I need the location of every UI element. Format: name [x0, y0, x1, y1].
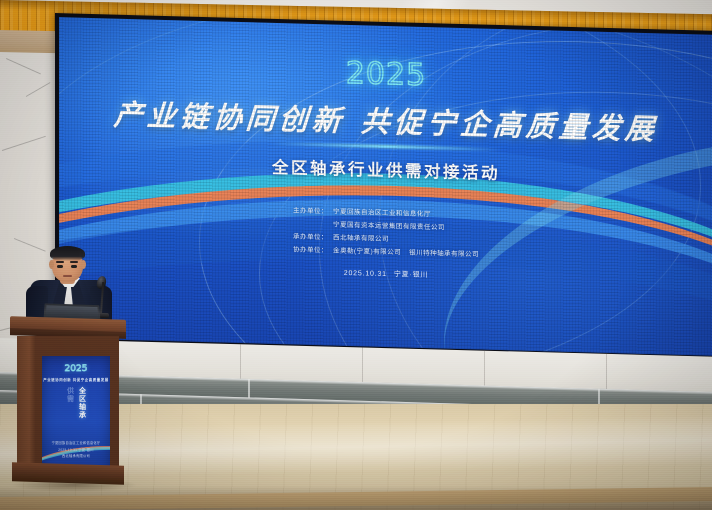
headline-underglow — [271, 142, 501, 151]
speaker-hair — [50, 246, 85, 261]
date-location-line: 2025.10.31宁夏·银川 — [344, 268, 428, 280]
headline-right: 共促宁企高质量发展 — [360, 106, 659, 146]
conference-stage-photo: 2025 产业链协同创新共促宁企高质量发展 全区轴承行业供需对接活动 主办单位：… — [0, 0, 712, 510]
main-headline: 产业链协同创新共促宁企高质量发展 — [113, 92, 660, 149]
podium-body: 2025 产业链协同创新 共促宁企高质量发展 供需 全区轴承 宁夏回族自治区工业… — [17, 336, 119, 466]
organizer-label: 承办单位： — [293, 231, 333, 245]
subtitle: 全区轴承行业供需对接活动 — [272, 154, 500, 184]
podium-banner-panel: 2025 产业链协同创新 共促宁企高质量发展 供需 全区轴承 宁夏回族自治区工业… — [42, 356, 110, 476]
organizer-value: 金奥勒(宁夏)有限公司银川特种轴承有限公司 — [333, 245, 479, 262]
podium-footer: 宁夏回族自治区工业和信息化厅 2025.10.31 宁夏·银川 西北轴承有限公司 — [42, 440, 110, 460]
event-date: 2025.10.31 — [344, 270, 387, 278]
organizer-block: 主办单位： 宁夏回族自治区工业和信息化厅 宁夏国有资本运营集团有限责任公司 承办… — [293, 205, 479, 261]
organizer-label: 协办单位： — [293, 244, 333, 258]
podium-title: 产业链协同创新 共促宁企高质量发展 — [42, 377, 110, 382]
podium-vertical-left: 供需 — [67, 387, 74, 419]
organizer-label: 主办单位： — [293, 205, 333, 219]
headline-left: 产业链协同创新 — [113, 100, 346, 138]
podium-year-logo: 2025 — [42, 364, 110, 374]
speaker-brow-left — [56, 261, 64, 263]
speaker-brow-right — [70, 261, 78, 263]
podium-floor-shadow — [10, 478, 138, 492]
event-location: 宁夏·银川 — [394, 272, 428, 280]
podium-footer-line: 西北轴承有限公司 — [42, 453, 110, 460]
organizer-value-b: 银川特种轴承有限公司 — [409, 249, 479, 258]
year-logo: 2025 — [346, 59, 426, 91]
led-screen-frame: 2025 产业链协同创新共促宁企高质量发展 全区轴承行业供需对接活动 主办单位：… — [55, 13, 712, 361]
podium-footer-line: 宁夏回族自治区工业和信息化厅 — [42, 440, 110, 447]
podium-footer-line: 2025.10.31 宁夏·银川 — [42, 447, 110, 454]
speaker-ear-right — [81, 260, 86, 269]
speaker-eye-right — [71, 265, 77, 268]
speaker-eye-left — [57, 265, 63, 268]
speaker-mouth — [63, 275, 72, 277]
speaker-ear-left — [49, 260, 54, 269]
led-screen: 2025 产业链协同创新共促宁企高质量发展 全区轴承行业供需对接活动 主办单位：… — [59, 17, 712, 356]
organizer-value-a: 金奥勒(宁夏)有限公司 — [333, 247, 401, 256]
podium-vertical-right: 全区轴承 — [79, 387, 86, 419]
screen-content: 2025 产业链协同创新共促宁企高质量发展 全区轴承行业供需对接活动 主办单位：… — [59, 17, 712, 356]
podium: 2025 产业链协同创新 共促宁企高质量发展 供需 全区轴承 宁夏回族自治区工业… — [10, 318, 126, 483]
podium-vertical-text: 供需 全区轴承 — [42, 387, 110, 419]
